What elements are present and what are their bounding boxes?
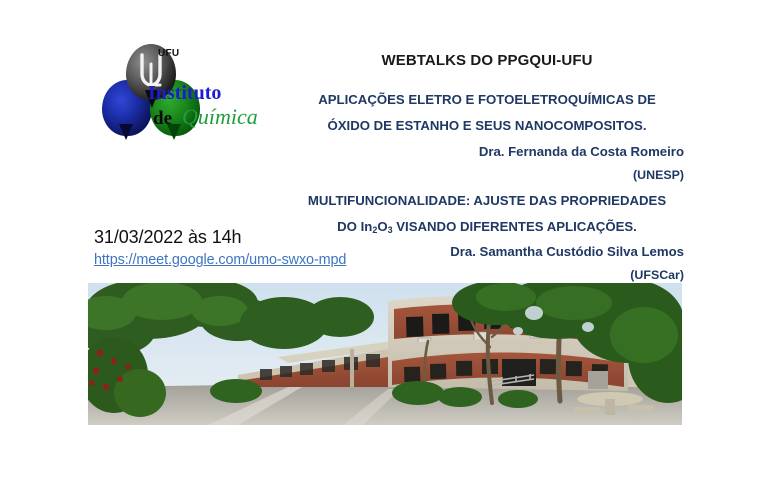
webtalks-poster: UFU Instituto de Química WEBTALKS DO PPG… [0, 0, 768, 480]
talk-2-formula-mid: O [377, 219, 387, 234]
logo-quimica-label: Química [182, 104, 258, 130]
campus-building-photo [88, 283, 682, 425]
event-date-time: 31/03/2022 às 14h [94, 227, 241, 248]
talk-2-formula-post: VISANDO DIFERENTES APLICAÇÕES. [393, 219, 637, 234]
talk-2-title-line-1: MULTIFUNCIONALIDADE: AJUSTE DAS PROPRIED… [290, 193, 684, 208]
logo-instituto-label: Instituto [148, 82, 221, 105]
instituto-de-quimica-ufu-logo: UFU Instituto de Química [98, 44, 268, 138]
talk-1-title-line-1: APLICAÇÕES ELETRO E FOTOELETROQUÍMICAS D… [290, 92, 684, 107]
talk-2-title-line-2: DO In2O3 VISANDO DIFERENTES APLICAÇÕES. [290, 219, 684, 235]
campus-building-photo-illustration [88, 283, 682, 425]
page-title: WEBTALKS DO PPGQUI-UFU [290, 52, 684, 69]
logo-de-label: de [153, 108, 172, 130]
talk-1-affiliation: (UNESP) [290, 168, 685, 182]
talk-2-speaker: Dra. Samantha Custódio Silva Lemos [290, 244, 685, 259]
logo-drop-blue-tip-icon [119, 124, 133, 140]
google-meet-link[interactable]: https://meet.google.com/umo-swxo-mpd [94, 252, 346, 268]
talk-1-speaker: Dra. Fernanda da Costa Romeiro [290, 144, 685, 159]
talk-1-title-line-2: ÓXIDO DE ESTANHO E SEUS NANOCOMPOSITOS. [290, 118, 684, 133]
logo-ufu-label: UFU [158, 48, 179, 59]
talk-2-formula-pre: DO In [337, 219, 372, 234]
talk-2-affiliation: (UFSCar) [290, 268, 685, 282]
